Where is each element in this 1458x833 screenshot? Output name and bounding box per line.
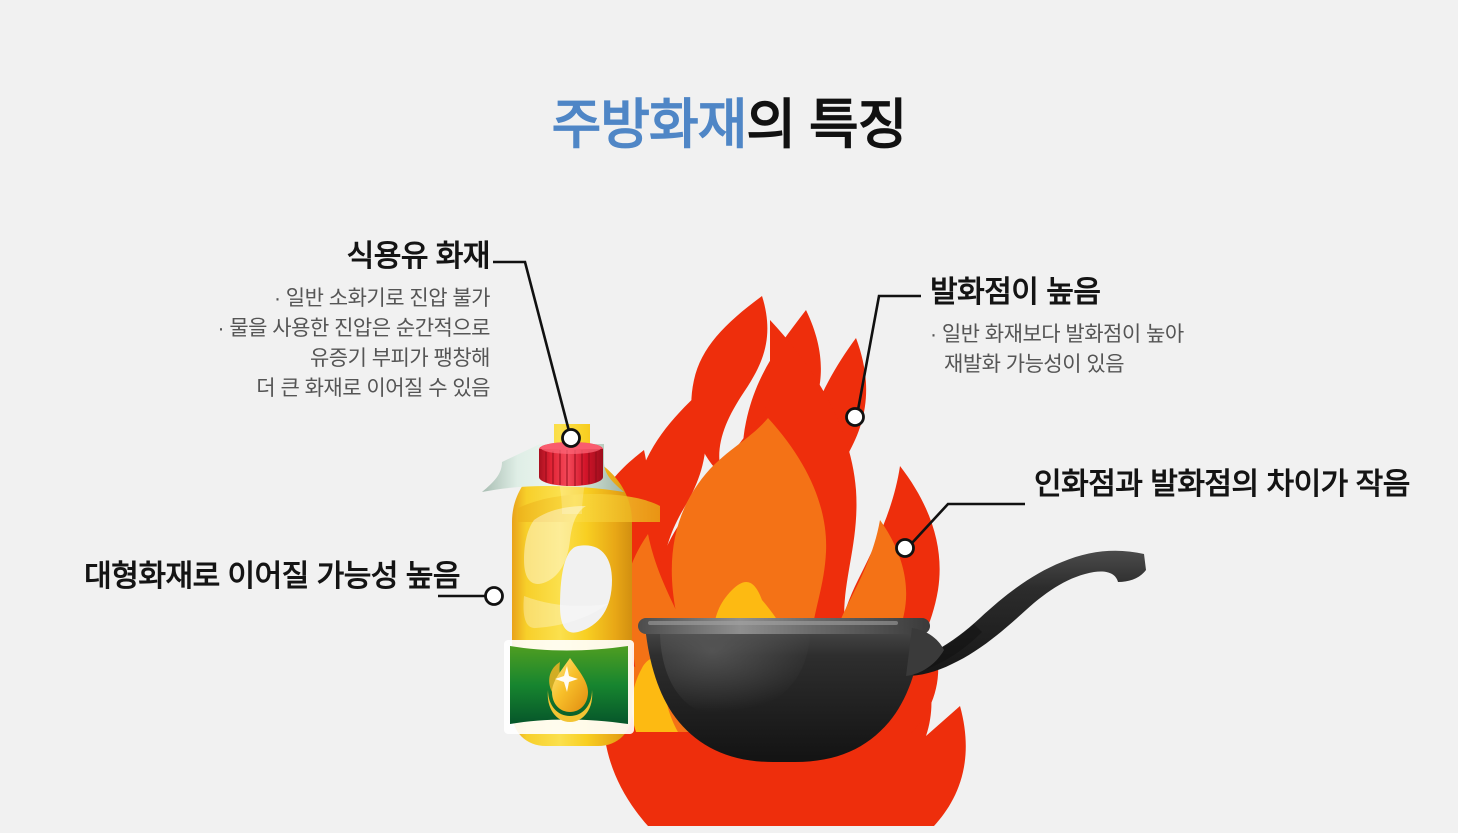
callout-ignition-point-heading: 발화점이 높음: [930, 274, 1400, 312]
bottle-cap: [539, 442, 603, 486]
kitchen-fire-illustration: [0, 0, 1458, 833]
callout-cooking-oil-body: · 일반 소화기로 진압 불가 · 물을 사용한 진압은 순간적으로 유증기 부…: [10, 284, 490, 404]
callout-line: 유증기 부피가 팽창해: [10, 344, 490, 374]
callout-flash-gap-heading: 인화점과 발화점의 차이가 작음: [1034, 464, 1434, 506]
infographic-canvas: 주방화재의 특징: [0, 0, 1458, 833]
callout-line: 더 큰 화재로 이어질 수 있음: [10, 374, 490, 404]
callout-ignition-point-body: · 일반 화재보다 발화점이 높아 재발화 가능성이 있음: [930, 320, 1400, 380]
callout-line: 이어질 가능성 높음: [228, 560, 460, 593]
callout-flash-gap: 인화점과 발화점의 차이가 작음: [1034, 464, 1434, 506]
callout-large-fire-heading: 대형화재로 이어질 가능성 높음: [20, 556, 460, 598]
callout-cooking-oil-heading: 식용유 화재: [10, 238, 490, 276]
callout-line: · 일반 화재보다 발화점이 높아: [930, 320, 1400, 350]
callout-line: · 물을 사용한 진압은 순간적으로: [10, 314, 490, 344]
callout-large-fire: 대형화재로 이어질 가능성 높음: [20, 556, 460, 598]
callout-cooking-oil: 식용유 화재 · 일반 소화기로 진압 불가 · 물을 사용한 진압은 순간적으…: [10, 238, 490, 404]
callout-ignition-point: 발화점이 높음 · 일반 화재보다 발화점이 높아 재발화 가능성이 있음: [930, 274, 1400, 380]
callout-line: 인화점과 발화점의: [1034, 468, 1259, 501]
callout-line: · 일반 소화기로 진압 불가: [10, 284, 490, 314]
callout-line: 대형화재로: [84, 560, 220, 593]
callout-line: 재발화 가능성이 있음: [930, 350, 1400, 380]
callout-line: 차이가 작음: [1266, 468, 1409, 501]
